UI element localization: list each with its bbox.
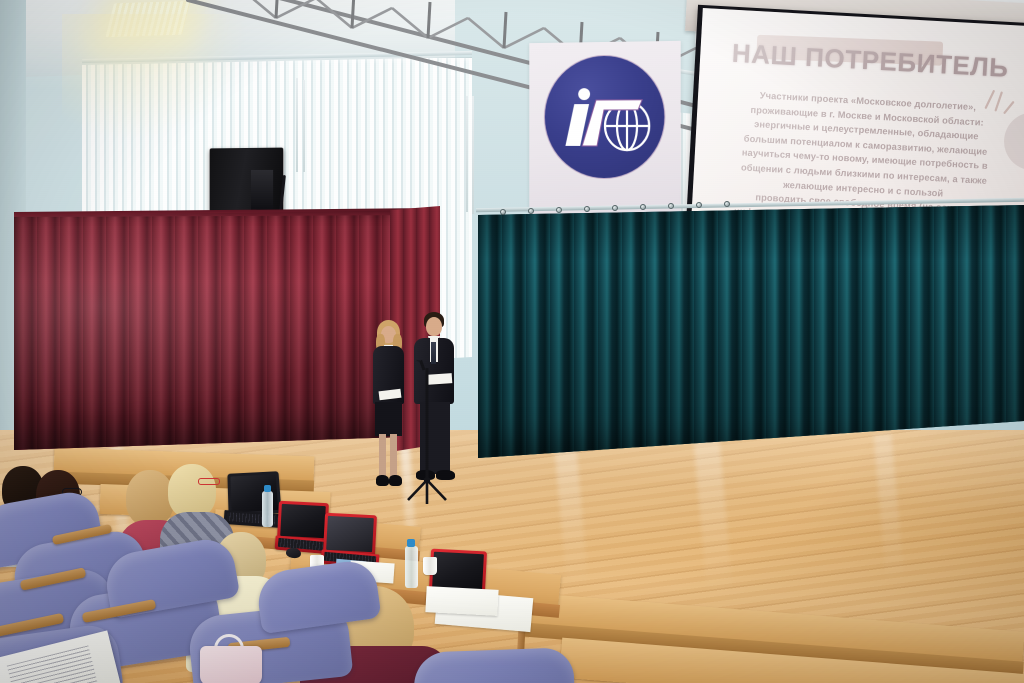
laptop-red-1-screen	[280, 504, 326, 538]
laptop-red-2-lid	[323, 513, 377, 556]
hanging-cord-2	[303, 80, 305, 172]
presenter-woman-leg-right	[390, 434, 397, 478]
laptop-black-lid	[227, 471, 281, 515]
paper-cup-2	[423, 557, 437, 575]
presenter-man-head	[426, 317, 442, 336]
ito-logo-icon	[545, 55, 665, 178]
attendee-3-hair	[126, 470, 174, 526]
curtain-grommet	[556, 207, 562, 213]
water-bottle-1	[262, 491, 273, 527]
curtain-teal-shading	[478, 205, 1024, 458]
curtain-grommet	[668, 203, 674, 209]
ceiling-light-panel	[105, 1, 190, 38]
curtain-grommet	[500, 209, 506, 215]
attendee-4-glasses	[198, 478, 220, 485]
curtain-grommet	[584, 206, 590, 212]
hanging-cord-1	[296, 78, 298, 172]
water-bottle-2-cap	[407, 539, 415, 547]
slide-title-wrap: НАШ ПОТРЕБИТЕЛЬ	[722, 37, 1019, 84]
slide-title: НАШ ПОТРЕБИТЕЛЬ	[731, 38, 1009, 83]
hanging-cord-3	[466, 96, 468, 212]
laptop-red-2-screen	[326, 516, 374, 552]
paper-stack-front-2	[425, 586, 498, 616]
presenter-woman-shoe-left	[376, 475, 389, 486]
water-bottle-2	[405, 546, 418, 588]
curtain-grommet	[612, 205, 618, 211]
paper-document-lines	[7, 645, 98, 683]
microphone-stand-icon	[405, 360, 449, 512]
hanging-cord-4	[472, 96, 474, 214]
presenter-woman	[366, 320, 410, 498]
stage-speaker-box	[210, 148, 284, 213]
presenter-woman-leg-left	[379, 434, 386, 478]
conference-hall-photo: НАШ ПОТРЕБИТЕЛЬ Участники проекта «Моско…	[0, 0, 1024, 683]
chair-9[interactable]	[413, 647, 575, 683]
handbag	[200, 646, 262, 683]
curtain-grommet	[696, 202, 702, 208]
curtain-grommet	[724, 201, 730, 207]
laptop-red-3-screen	[432, 552, 484, 591]
presenter-woman-shoe-right	[389, 475, 402, 486]
window-curtains-teal	[478, 205, 1024, 458]
curtain-grommet	[528, 208, 534, 214]
curtain-grommet	[640, 204, 646, 210]
wall-banner	[529, 41, 680, 219]
attendee-4-hair	[168, 464, 216, 518]
water-bottle-1-cap	[264, 485, 271, 492]
presenter-woman-skirt	[375, 402, 402, 436]
sparkle-icon	[981, 86, 1017, 118]
